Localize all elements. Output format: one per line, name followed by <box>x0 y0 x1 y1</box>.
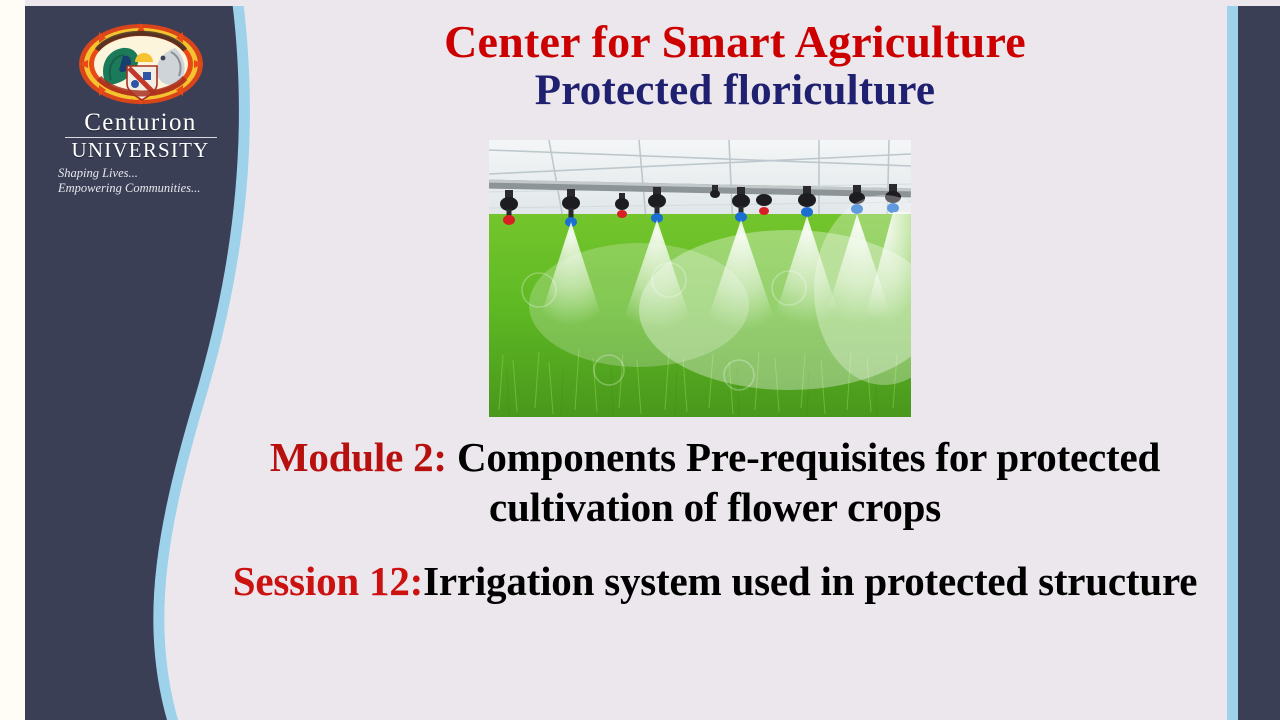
module-line: Module 2: Components Pre-requisites for … <box>215 432 1215 532</box>
slide-body: Module 2: Components Pre-requisites for … <box>215 432 1215 606</box>
logo-tagline-line-1: Shaping Lives... <box>58 166 233 182</box>
logo-name: Centurion <box>48 110 233 136</box>
greenhouse-irrigation-photo <box>489 140 911 417</box>
right-navy-accent-bar <box>1238 0 1280 720</box>
session-label: Session 12: <box>233 558 423 604</box>
session-line: Session 12:Irrigation system used in pro… <box>215 556 1215 606</box>
top-margin-strip <box>0 0 1280 6</box>
presentation-slide: Centurion UNIVERSITY Shaping Lives... Em… <box>0 0 1280 720</box>
module-label: Module 2: <box>270 434 447 480</box>
university-logo: Centurion UNIVERSITY Shaping Lives... Em… <box>48 22 233 197</box>
logo-tagline-line-2: Empowering Communities... <box>58 181 233 197</box>
module-text: Components Pre-requisites for protected … <box>447 434 1160 530</box>
page-subtitle: Protected floriculture <box>255 67 1215 115</box>
left-margin-strip <box>0 0 25 720</box>
page-title: Center for Smart Agriculture <box>255 18 1215 67</box>
session-text: Irrigation system used in protected stru… <box>423 558 1197 604</box>
logo-tagline: Shaping Lives... Empowering Communities.… <box>48 166 233 197</box>
right-blue-accent-bar <box>1227 0 1238 720</box>
slide-header: Center for Smart Agriculture Protected f… <box>255 18 1215 115</box>
logo-university-label: UNIVERSITY <box>48 139 233 161</box>
university-seal-icon <box>75 22 207 106</box>
